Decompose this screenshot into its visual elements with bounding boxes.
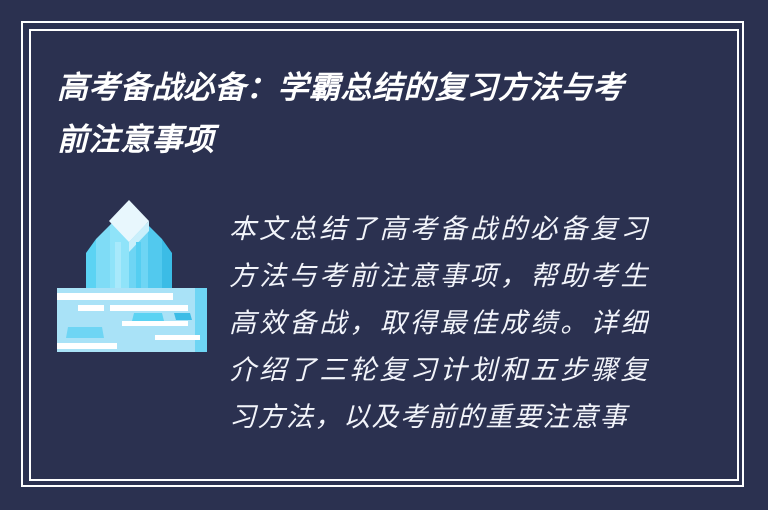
- article-summary-text: 本文总结了高考备战的必备复习方法与考前注意事项，帮助考生高效备战，取得最佳成绩。…: [229, 206, 649, 456]
- page-title: 高考备战必备：学霸总结的复习方法与考前注意事项: [57, 62, 647, 166]
- water-block: [57, 288, 207, 352]
- iceberg-peak: [86, 200, 172, 295]
- article-cover-card: 高考备战必备：学霸总结的复习方法与考前注意事项: [0, 0, 768, 510]
- iceberg-illustration: [50, 195, 215, 360]
